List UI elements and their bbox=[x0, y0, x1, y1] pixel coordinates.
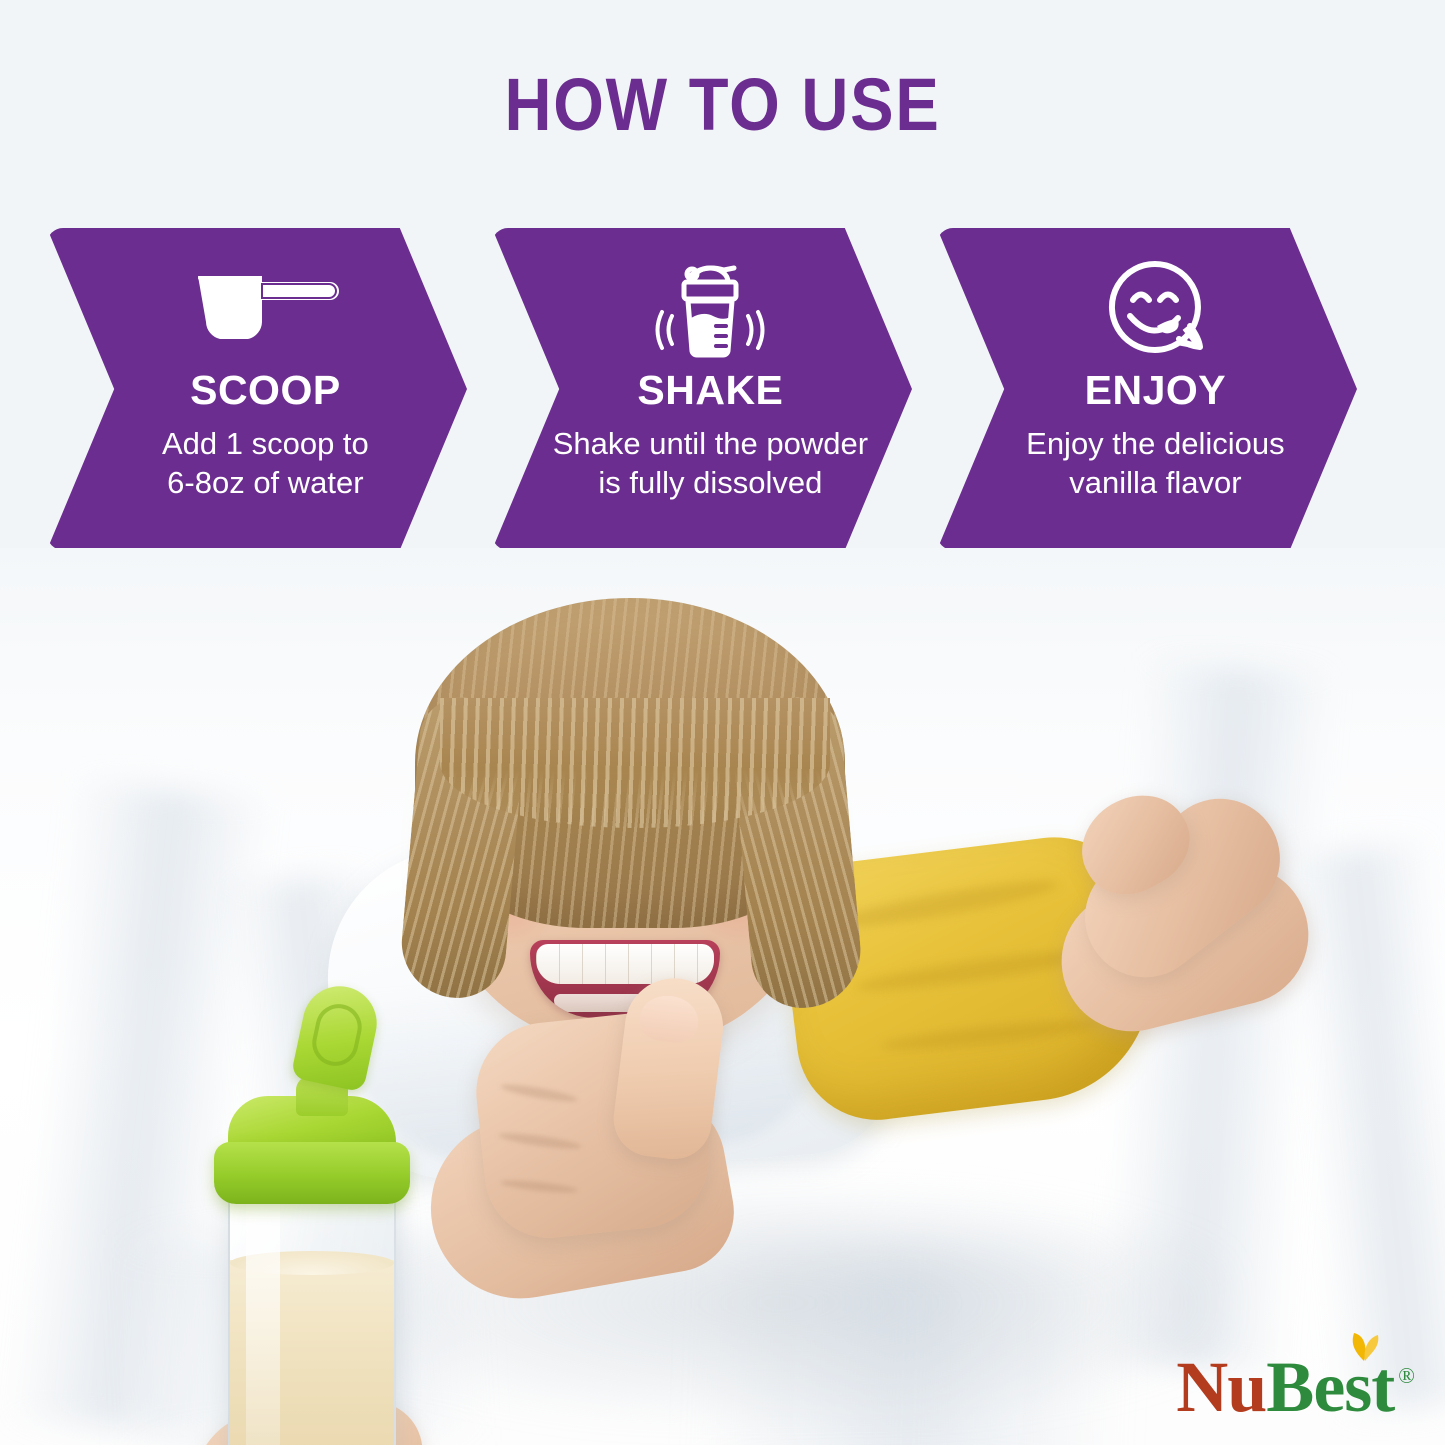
bangs bbox=[440, 698, 830, 828]
step-heading: SHAKE bbox=[637, 368, 783, 413]
scoop-icon bbox=[190, 256, 340, 360]
logo-text-best: Best bbox=[1266, 1351, 1394, 1423]
registered-trademark: ® bbox=[1398, 1363, 1415, 1389]
leaf-sprout-icon bbox=[1342, 1325, 1388, 1363]
page-title: HOW TO USE bbox=[87, 66, 1359, 144]
step-heading: SCOOP bbox=[190, 368, 341, 413]
steps-row: SCOOP Add 1 scoop to 6-8oz of water bbox=[0, 228, 1445, 550]
logo-text-nu: Nu bbox=[1176, 1351, 1266, 1423]
step-body: Add 1 scoop to 6-8oz of water bbox=[162, 425, 369, 502]
step-chevron-enjoy: ENJOY Enjoy the delicious vanilla flavor bbox=[937, 228, 1357, 550]
shaker-bottle bbox=[228, 1176, 396, 1445]
step-chevron-shake: SHAKE Shake until the powder is fully di… bbox=[492, 228, 912, 550]
infographic-page: HOW TO USE SCOOP Add 1 scoop to 6-8oz of… bbox=[0, 0, 1445, 1445]
product-lifestyle-photo bbox=[0, 548, 1445, 1445]
step-body: Shake until the powder is fully dissolve… bbox=[553, 425, 868, 502]
step-body: Enjoy the delicious vanilla flavor bbox=[1026, 425, 1285, 502]
smiley-speech-bubble-icon bbox=[1102, 256, 1208, 360]
bottle-highlight bbox=[246, 1188, 280, 1445]
upper-teeth bbox=[536, 944, 714, 984]
bottle-lid-ring bbox=[214, 1142, 410, 1204]
shaker-bottle-icon bbox=[646, 256, 774, 360]
step-heading: ENJOY bbox=[1085, 368, 1227, 413]
child-figure bbox=[0, 548, 1445, 1445]
step-chevron-scoop: SCOOP Add 1 scoop to 6-8oz of water bbox=[47, 228, 467, 550]
nubest-logo: Nu Best ® bbox=[1176, 1351, 1415, 1423]
